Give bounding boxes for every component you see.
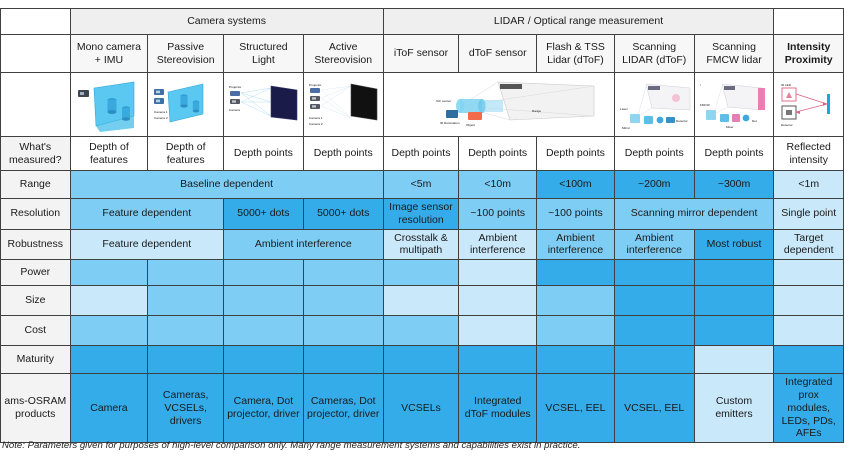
group-header-row: Camera systems LIDAR / Optical range mea…: [1, 9, 844, 35]
cell-products-mono: Camera: [70, 374, 148, 443]
cell-measured-itof: Depth points: [383, 137, 459, 171]
table-row-robustness: Robustness Feature dependent Ambient int…: [1, 229, 844, 260]
cell-resolution-feature-dependent: Feature dependent: [70, 199, 223, 230]
column-header-itof-sensor: iToF sensor: [383, 35, 459, 73]
svg-text:ToF sensor: ToF sensor: [436, 99, 451, 103]
scanning-lidar-diagram: Laser Mirror Detector: [614, 73, 694, 137]
structured-light-diagram: Projector Camera: [224, 73, 304, 137]
cell-products-itof: VCSELs: [383, 374, 459, 443]
range-sensing-comparison-table: Camera systems LIDAR / Optical range mea…: [0, 8, 844, 443]
cell-power-dtof: [459, 260, 537, 286]
svg-text:Mixer: Mixer: [726, 125, 734, 129]
corner-spacer-3: [1, 73, 71, 137]
cell-range-scanning-lidar: ~200m: [614, 171, 694, 199]
cell-size-intensity: [774, 286, 844, 316]
camera2-label: Camera 2: [154, 116, 168, 120]
cell-cost-structured: [224, 316, 304, 346]
projector-label-2: Projector: [309, 83, 321, 87]
cell-robustness-feature-dependent: Feature dependent: [70, 229, 223, 260]
cell-measured-active: Depth points: [303, 137, 383, 171]
cell-power-intensity: [774, 260, 844, 286]
cell-resolution-dtof: ~100 points: [459, 199, 537, 230]
cell-power-passive: [148, 260, 224, 286]
row-label-range: Range: [1, 171, 71, 199]
svg-text:Det.: Det.: [752, 119, 758, 123]
table-row-ams-osram-products: ams-OSRAM products Camera Cameras, VCSEL…: [1, 374, 844, 443]
column-header-intensity-proximity: Intensity Proximity: [774, 35, 844, 73]
svg-text:Laser: Laser: [620, 107, 628, 111]
cell-maturity-flash: [537, 346, 615, 374]
cell-products-scanning-lidar: VCSEL, EEL: [614, 374, 694, 443]
mono-camera-frustum-diagram: [70, 73, 148, 137]
cell-resolution-scanning: Scanning mirror dependent: [614, 199, 774, 230]
cell-robustness-itof: Crosstalk & multipath: [383, 229, 459, 260]
cell-measured-fmcw: Depth points: [694, 137, 774, 171]
table-row-cost: Cost: [1, 316, 844, 346]
camera1-label-2: Camera 1: [309, 116, 323, 120]
corner-spacer: [1, 9, 71, 35]
ir-led-label: IR LED: [781, 83, 792, 87]
cell-power-active: [303, 260, 383, 286]
camera-label: Camera: [229, 108, 240, 112]
cell-products-flash: VCSEL, EEL: [537, 374, 615, 443]
group-header-camera-systems: Camera systems: [70, 9, 383, 35]
cell-power-mono: [70, 260, 148, 286]
cell-resolution-intensity: Single point: [774, 199, 844, 230]
cell-measured-dtof: Depth points: [459, 137, 537, 171]
cell-resolution-itof: Image sensor resolution: [383, 199, 459, 230]
cell-products-dtof: Integrated dToF modules: [459, 374, 537, 443]
column-header-mono-camera: Mono camera + IMU: [70, 35, 148, 73]
detector-label: Detector: [781, 123, 793, 127]
cell-measured-mono: Depth of features: [70, 137, 148, 171]
cell-robustness-dtof: Ambient interference: [459, 229, 537, 260]
table-row-range: Range Baseline dependent <5m <10m <100m …: [1, 171, 844, 199]
cell-resolution-flash: ~100 points: [537, 199, 615, 230]
active-stereovision-diagram: Projector Camera 1 Camera 2: [303, 73, 383, 137]
cell-cost-scanning-lidar: [614, 316, 694, 346]
cell-range-camera-systems: Baseline dependent: [70, 171, 383, 199]
camera2-label-2: Camera 2: [309, 122, 323, 126]
row-label-cost: Cost: [1, 316, 71, 346]
cell-cost-fmcw: [694, 316, 774, 346]
cell-robustness-intensity: Target dependent: [774, 229, 844, 260]
svg-text:Detector: Detector: [676, 119, 688, 123]
cell-robustness-ambient-structured: Ambient interference: [224, 229, 384, 260]
cell-cost-itof: [383, 316, 459, 346]
cell-maturity-scanning-lidar: [614, 346, 694, 374]
projector-label: Projector: [229, 85, 241, 89]
cell-cost-mono: [70, 316, 148, 346]
row-label-ams-osram-products: ams-OSRAM products: [1, 374, 71, 443]
camera1-label: Camera 1: [154, 110, 168, 114]
cell-power-structured: [224, 260, 304, 286]
passive-stereovision-diagram: Camera 1 Camera 2: [148, 73, 224, 137]
column-header-dtof-sensor: dToF sensor: [459, 35, 537, 73]
cell-cost-active: [303, 316, 383, 346]
cell-cost-passive: [148, 316, 224, 346]
svg-text:Object: Object: [466, 123, 475, 127]
cell-maturity-intensity: [774, 346, 844, 374]
cell-products-active: Cameras, Dot projector, driver: [303, 374, 383, 443]
cell-power-flash: [537, 260, 615, 286]
cell-robustness-scanning-lidar: Ambient interference: [614, 229, 694, 260]
cell-size-mono: [70, 286, 148, 316]
ir-led-detector-diagram: IR LED Detector: [774, 73, 844, 137]
svg-text:Range: Range: [532, 109, 541, 113]
cell-measured-intensity: Reflected intensity: [774, 137, 844, 171]
group-header-lidar: LIDAR / Optical range measurement: [383, 9, 774, 35]
comparison-matrix-root: Camera systems LIDAR / Optical range mea…: [0, 0, 844, 456]
cell-cost-flash: [537, 316, 615, 346]
column-header-flash-tss-lidar: Flash & TSS Lidar (dToF): [537, 35, 615, 73]
svg-text:/: /: [700, 83, 701, 87]
footnote-note: Note: Parameters given for purposes of h…: [2, 440, 580, 451]
cell-robustness-fmcw: Most robust: [694, 229, 774, 260]
column-header-structured-light: Structured Light: [224, 35, 304, 73]
cell-size-scanning-lidar: [614, 286, 694, 316]
cell-measured-scanning-lidar: Depth points: [614, 137, 694, 171]
cell-range-itof: <5m: [383, 171, 459, 199]
table-row-whats-measured: What's measured? Depth of features Depth…: [1, 137, 844, 171]
cell-resolution-structured: 5000+ dots: [224, 199, 304, 230]
cell-range-flash: <100m: [537, 171, 615, 199]
cell-size-fmcw: [694, 286, 774, 316]
row-label-maturity: Maturity: [1, 346, 71, 374]
cell-products-passive: Cameras, VCSELs, drivers: [148, 374, 224, 443]
cell-size-dtof: [459, 286, 537, 316]
cell-measured-structured: Depth points: [224, 137, 304, 171]
cell-range-fmcw: ~300m: [694, 171, 774, 199]
cell-power-fmcw: [694, 260, 774, 286]
cell-size-structured: [224, 286, 304, 316]
cell-maturity-active: [303, 346, 383, 374]
cell-robustness-flash: Ambient interference: [537, 229, 615, 260]
tof-sensor-scene-diagram: ToF sensor IR illumination Object Range: [383, 73, 614, 137]
svg-text:FMCW: FMCW: [700, 103, 710, 107]
cell-power-itof: [383, 260, 459, 286]
illustration-row: Camera 1 Camera 2 Projector Camera: [1, 73, 844, 137]
cell-size-itof: [383, 286, 459, 316]
cell-size-passive: [148, 286, 224, 316]
cell-cost-dtof: [459, 316, 537, 346]
row-label-robustness: Robustness: [1, 229, 71, 260]
table-row-size: Size: [1, 286, 844, 316]
cell-cost-intensity: [774, 316, 844, 346]
column-header-scanning-fmcw-lidar: Scanning FMCW lidar: [694, 35, 774, 73]
column-header-active-stereovision: Active Stereovision: [303, 35, 383, 73]
cell-maturity-passive: [148, 346, 224, 374]
cell-measured-flash: Depth points: [537, 137, 615, 171]
svg-text:Mirror: Mirror: [622, 126, 630, 130]
row-label-whats-measured: What's measured?: [1, 137, 71, 171]
table-row-resolution: Resolution Feature dependent 5000+ dots …: [1, 199, 844, 230]
cell-products-fmcw: Custom emitters: [694, 374, 774, 443]
cell-products-intensity: Integrated prox modules, LEDs, PDs, AFEs: [774, 374, 844, 443]
group-header-intensity-spacer: [774, 9, 844, 35]
cell-measured-passive: Depth of features: [148, 137, 224, 171]
technology-name-row: Mono camera + IMU Passive Stereovision S…: [1, 35, 844, 73]
scanning-fmcw-diagram: / FMCW Mixer Det.: [694, 73, 774, 137]
corner-spacer-2: [1, 35, 71, 73]
cell-size-flash: [537, 286, 615, 316]
cell-maturity-dtof: [459, 346, 537, 374]
cell-range-intensity: <1m: [774, 171, 844, 199]
table-row-maturity: Maturity: [1, 346, 844, 374]
row-label-size: Size: [1, 286, 71, 316]
column-header-scanning-lidar: Scanning LIDAR (dToF): [614, 35, 694, 73]
cell-maturity-fmcw: [694, 346, 774, 374]
column-header-passive-stereovision: Passive Stereovision: [148, 35, 224, 73]
cell-power-scanning-lidar: [614, 260, 694, 286]
cell-size-active: [303, 286, 383, 316]
cell-maturity-structured: [224, 346, 304, 374]
cell-range-dtof: <10m: [459, 171, 537, 199]
cell-resolution-active: 5000+ dots: [303, 199, 383, 230]
row-label-power: Power: [1, 260, 71, 286]
svg-text:IR illumination: IR illumination: [440, 121, 460, 125]
table-row-power: Power: [1, 260, 844, 286]
cell-maturity-itof: [383, 346, 459, 374]
cell-maturity-mono: [70, 346, 148, 374]
row-label-resolution: Resolution: [1, 199, 71, 230]
cell-products-structured: Camera, Dot projector, driver: [224, 374, 304, 443]
